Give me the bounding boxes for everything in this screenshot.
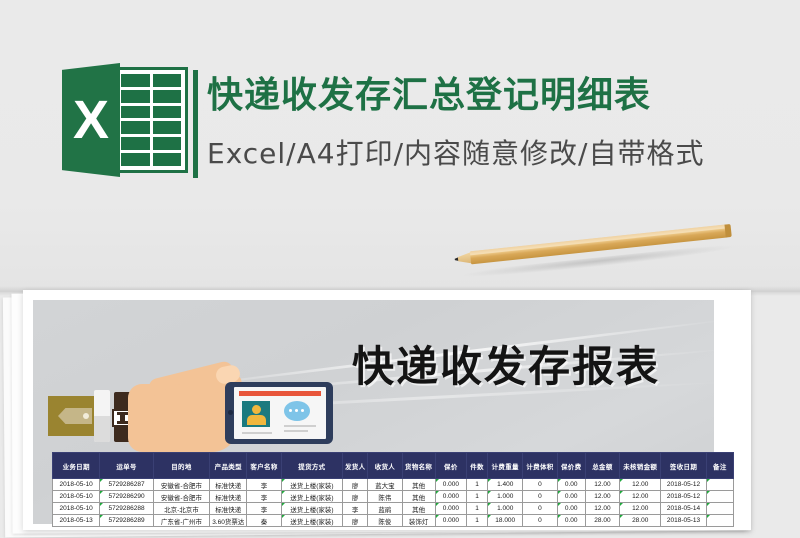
phone-topbar: [239, 391, 321, 396]
excel-logo: X: [62, 63, 188, 177]
cell-r1-c14[interactable]: 12.00: [585, 491, 619, 503]
cell-r3-c6[interactable]: 廖: [343, 515, 368, 527]
column-header-17[interactable]: 备注: [706, 453, 733, 479]
cell-r2-c3[interactable]: 标准快递: [210, 503, 247, 515]
cell-r2-c12[interactable]: 0: [523, 503, 557, 515]
cell-r1-c6[interactable]: 廖: [343, 491, 368, 503]
cell-r3-c10[interactable]: 1: [466, 515, 487, 527]
column-header-14[interactable]: 总金额: [585, 453, 619, 479]
sleeve-button: [83, 413, 89, 419]
cell-r1-c16[interactable]: 2018-05-12: [661, 491, 706, 503]
column-header-6[interactable]: 发货人: [343, 453, 368, 479]
cell-r3-c5[interactable]: 送货上楼(家装): [281, 515, 342, 527]
cell-r3-c15[interactable]: 28.00: [620, 515, 661, 527]
column-header-2[interactable]: 目的地: [153, 453, 209, 479]
cell-r2-c9[interactable]: 0.000: [435, 503, 466, 515]
cell-r1-c4[interactable]: 李: [247, 491, 281, 503]
cell-r2-c7[interactable]: 蓝鹃: [368, 503, 402, 515]
cell-r1-c7[interactable]: 陈伟: [368, 491, 402, 503]
shirt-cuff-shade: [94, 416, 110, 442]
cell-r3-c17[interactable]: [706, 515, 733, 527]
pencil-icon: [454, 220, 745, 276]
cell-r1-c1[interactable]: 5729286290: [100, 491, 153, 503]
column-header-13[interactable]: 保价费: [557, 453, 585, 479]
table-row[interactable]: 2018-05-105729286288北京-北京市标准快递李送货上楼(家装)李…: [53, 503, 734, 515]
cell-r3-c2[interactable]: 广东省-广州市: [153, 515, 209, 527]
table-row[interactable]: 2018-05-105729286290安徽省-合肥市标准快递李送货上楼(家装)…: [53, 491, 734, 503]
cell-r0-c11[interactable]: 1.400: [488, 479, 523, 491]
cell-r2-c13[interactable]: 0.00: [557, 503, 585, 515]
cell-r0-c12[interactable]: 0: [523, 479, 557, 491]
column-header-10[interactable]: 件数: [466, 453, 487, 479]
column-header-8[interactable]: 货物名称: [402, 453, 435, 479]
cell-r1-c8[interactable]: 其他: [402, 491, 435, 503]
column-header-0[interactable]: 业务日期: [53, 453, 100, 479]
cell-r1-c0[interactable]: 2018-05-10: [53, 491, 100, 503]
cell-r0-c5[interactable]: 送货上楼(家装): [281, 479, 342, 491]
phone-text-line: [284, 430, 308, 432]
column-header-1[interactable]: 运单号: [100, 453, 153, 479]
column-header-5[interactable]: 提货方式: [281, 453, 342, 479]
cell-r3-c7[interactable]: 陈俊: [368, 515, 402, 527]
column-header-16[interactable]: 签收日期: [661, 453, 706, 479]
phone-text-line: [242, 432, 272, 434]
table-row[interactable]: 2018-05-105729286287安徽省-合肥市标准快递李送货上楼(家装)…: [53, 479, 734, 491]
cell-r3-c11[interactable]: 18.000: [488, 515, 523, 527]
cell-r3-c14[interactable]: 28.00: [585, 515, 619, 527]
cell-r2-c4[interactable]: 李: [247, 503, 281, 515]
phone-text-line: [284, 425, 316, 427]
chat-bubble-icon: [284, 401, 310, 421]
cell-r0-c15[interactable]: 12.00: [620, 479, 661, 491]
cell-r1-c11[interactable]: 1.000: [488, 491, 523, 503]
table-header-row: 业务日期运单号目的地产品类型客户名称提货方式发货人收货人货物名称保价件数计费重量…: [53, 453, 734, 479]
cell-r3-c9[interactable]: 0.000: [435, 515, 466, 527]
column-header-4[interactable]: 客户名称: [247, 453, 281, 479]
cell-r0-c1[interactable]: 5729286287: [100, 479, 153, 491]
cell-r1-c15[interactable]: 12.00: [620, 491, 661, 503]
cell-r2-c1[interactable]: 5729286288: [100, 503, 153, 515]
cell-r0-c13[interactable]: 0.00: [557, 479, 585, 491]
cell-r0-c2[interactable]: 安徽省-合肥市: [153, 479, 209, 491]
page-subtitle: Excel/A4打印/内容随意修改/自带格式: [207, 134, 704, 174]
cell-r2-c6[interactable]: 李: [343, 503, 368, 515]
cell-r1-c2[interactable]: 安徽省-合肥市: [153, 491, 209, 503]
title-accent-bar: [193, 70, 198, 178]
cell-r2-c17[interactable]: [706, 503, 733, 515]
cell-r0-c17[interactable]: [706, 479, 733, 491]
table-row[interactable]: 2018-05-135729286289广东省-广州市3.60货票达秦送货上楼(…: [53, 515, 734, 527]
avatar-body: [247, 415, 266, 425]
avatar-head: [252, 405, 261, 414]
watch-hands: [120, 412, 125, 424]
cell-r1-c9[interactable]: 0.000: [435, 491, 466, 503]
spreadsheet-preview[interactable]: 业务日期运单号目的地产品类型客户名称提货方式发货人收货人货物名称保价件数计费重量…: [52, 452, 734, 527]
phone-camera: [228, 410, 233, 415]
cell-r1-c3[interactable]: 标准快递: [210, 491, 247, 503]
column-header-11[interactable]: 计费重量: [488, 453, 523, 479]
cell-r3-c13[interactable]: 0.00: [557, 515, 585, 527]
cell-r3-c12[interactable]: 0: [523, 515, 557, 527]
cell-r0-c3[interactable]: 标准快递: [210, 479, 247, 491]
cell-r0-c7[interactable]: 蓝大宝: [368, 479, 402, 491]
cell-r3-c16[interactable]: 2018-05-13: [661, 515, 706, 527]
cell-r0-c0[interactable]: 2018-05-10: [53, 479, 100, 491]
cell-r2-c16[interactable]: 2018-05-14: [661, 503, 706, 515]
cell-r3-c0[interactable]: 2018-05-13: [53, 515, 100, 527]
cell-r2-c15[interactable]: 12.00: [620, 503, 661, 515]
cell-r0-c10[interactable]: 1: [466, 479, 487, 491]
cell-r2-c14[interactable]: 12.00: [585, 503, 619, 515]
cell-r2-c8[interactable]: 其他: [402, 503, 435, 515]
phone-avatar-card: [242, 401, 270, 427]
cell-r1-c12[interactable]: 0: [523, 491, 557, 503]
cell-r2-c0[interactable]: 2018-05-10: [53, 503, 100, 515]
pencil-end: [724, 224, 731, 238]
cell-r1-c10[interactable]: 1: [466, 491, 487, 503]
cell-r0-c6[interactable]: 廖: [343, 479, 368, 491]
cell-r2-c11[interactable]: 1.000: [488, 503, 523, 515]
cell-r2-c10[interactable]: 1: [466, 503, 487, 515]
preview-heading: 快递收发存报表: [352, 342, 660, 392]
column-header-15[interactable]: 未核销金额: [620, 453, 661, 479]
cell-r1-c5[interactable]: 送货上楼(家装): [281, 491, 342, 503]
cell-r1-c17[interactable]: [706, 491, 733, 503]
column-header-7[interactable]: 收货人: [368, 453, 402, 479]
excel-logo-sheet: [114, 67, 188, 173]
cell-r1-c13[interactable]: 0.00: [557, 491, 585, 503]
cell-r0-c9[interactable]: 0.000: [435, 479, 466, 491]
smartphone-icon: [225, 382, 333, 444]
promo-banner: X 快递收发存汇总登记明细表 Excel/A4打印/内容随意修改/自带格式: [0, 0, 800, 292]
cell-r3-c1[interactable]: 5729286289: [100, 515, 153, 527]
cell-r0-c16[interactable]: 2018-05-12: [661, 479, 706, 491]
cell-r3-c4[interactable]: 秦: [247, 515, 281, 527]
excel-logo-letter: X: [62, 63, 120, 177]
cell-r0-c14[interactable]: 12.00: [585, 479, 619, 491]
cell-r3-c8[interactable]: 装饰灯: [402, 515, 435, 527]
cell-r3-c3[interactable]: 3.60货票达: [210, 515, 247, 527]
cell-r2-c2[interactable]: 北京-北京市: [153, 503, 209, 515]
page-title: 快递收发存汇总登记明细表: [207, 72, 651, 118]
cell-r2-c5[interactable]: 送货上楼(家装): [281, 503, 342, 515]
excel-logo-grid: [121, 74, 181, 166]
column-header-12[interactable]: 计费体积: [523, 453, 557, 479]
cell-r0-c4[interactable]: 李: [247, 479, 281, 491]
column-header-3[interactable]: 产品类型: [210, 453, 247, 479]
cell-r0-c8[interactable]: 其他: [402, 479, 435, 491]
column-header-9[interactable]: 保价: [435, 453, 466, 479]
phone-screen: [234, 387, 326, 439]
